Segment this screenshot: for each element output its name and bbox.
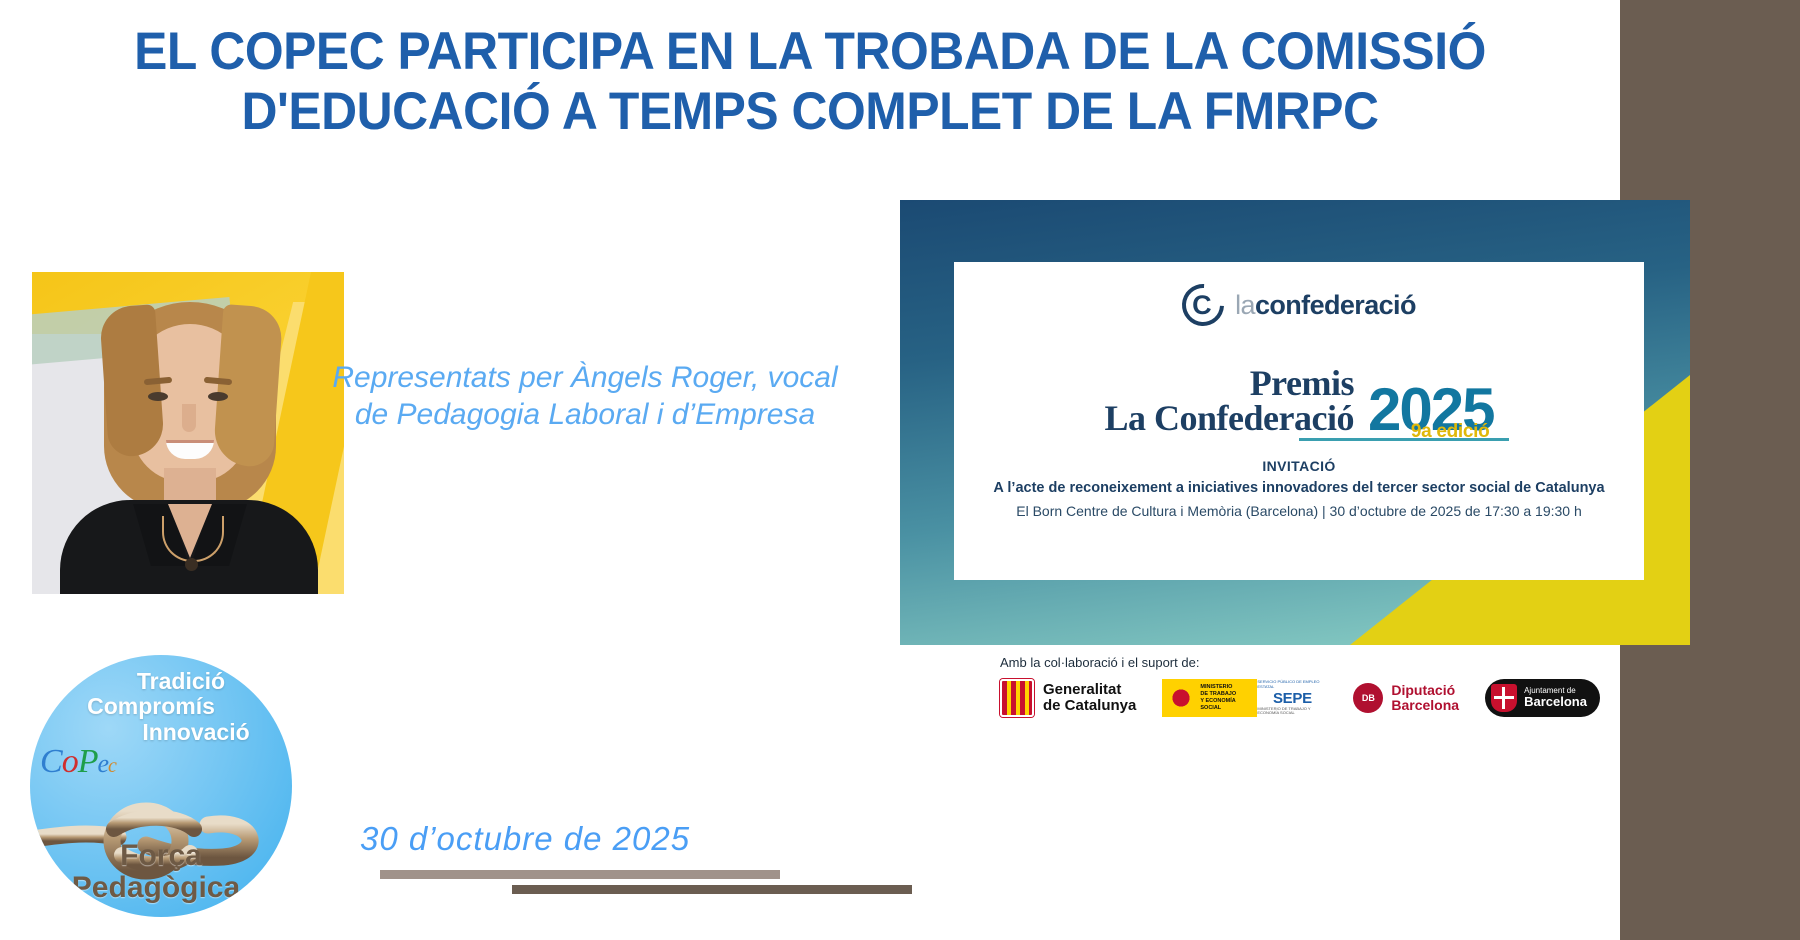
copec-force-line-2: Pedagògica	[30, 872, 292, 904]
sepe-top-text: SERVICIO PÚBLICO DE EMPLEO ESTATAL	[1257, 680, 1327, 690]
copec-letter-c: C	[40, 743, 62, 780]
ministerio-label: MINISTERIO DE TRABAJO Y ECONOMÍA SOCIAL	[1200, 684, 1248, 712]
generalitat-line-2: de Catalunya	[1043, 698, 1136, 714]
invitation-details: El Born Centre de Cultura i Memòria (Bar…	[954, 503, 1644, 519]
copec-letter-c2: c	[108, 755, 116, 777]
copec-logo: Tradició Compromís Innovació CoPec Força…	[30, 655, 292, 917]
sponsor-ministerio: MINISTERIO DE TRABAJO Y ECONOMÍA SOCIAL …	[1162, 679, 1327, 717]
copec-slogan-line-1: Tradició	[30, 669, 292, 694]
invitation-card-inner: C laconfederació Premis La Confederació …	[954, 262, 1644, 580]
copec-letter-e: e	[97, 749, 108, 778]
portrait-hair-right	[212, 304, 283, 468]
invitation-block: INVITACIÓ A l’acte de reconeixement a in…	[954, 458, 1644, 519]
copec-slogan: Tradició Compromís Innovació	[30, 669, 292, 745]
sepe-bottom-text: MINISTERIO DE TRABAJO Y ECONOMÍA SOCIAL	[1257, 707, 1327, 717]
generalitat-label: Generalitat de Catalunya	[1043, 682, 1136, 714]
copec-slogan-line-2: Compromís	[30, 694, 292, 719]
portrait-eye-right	[208, 392, 228, 401]
sponsor-diputacio: DB Diputació Barcelona	[1353, 683, 1459, 713]
ministerio-line-1: MINISTERIO	[1200, 684, 1248, 691]
diputacio-line-2: Barcelona	[1391, 698, 1459, 713]
decorative-bar-dark	[512, 885, 912, 894]
portrait-pendant	[185, 558, 198, 571]
ministerio-line-3: Y ECONOMÍA SOCIAL	[1200, 698, 1248, 712]
award-year-block: 2025 9a edició	[1368, 384, 1493, 437]
portrait-nose	[182, 404, 196, 432]
copec-letter-p: P	[78, 743, 98, 780]
award-line-1: Premis	[1105, 366, 1354, 401]
sepe-wordmark: SEPE	[1273, 690, 1312, 707]
award-title-row: Premis La Confederació 2025 9a edició	[954, 366, 1644, 437]
portrait-person	[32, 272, 344, 594]
invitation-text: A l’acte de reconeixement a iniciatives …	[954, 480, 1644, 496]
sponsor-generalitat: Generalitat de Catalunya	[1000, 679, 1136, 717]
laconfederacio-la: la	[1235, 290, 1255, 320]
ajuntament-line-2: Barcelona	[1524, 695, 1587, 709]
laconfederacio-mark-icon: C	[1182, 284, 1224, 326]
sponsors-caption: Amb la col·laboració i el suport de:	[1000, 655, 1620, 670]
date-text: 30 d’octubre de 2025	[360, 820, 690, 858]
page-title: EL COPEC PARTICIPA EN LA TROBADA DE LA C…	[49, 22, 1572, 143]
sponsor-ajuntament: Ajuntament de Barcelona	[1485, 679, 1600, 717]
portrait-eye-left	[148, 392, 168, 401]
ministerio-line-2: DE TRABAJO	[1200, 691, 1248, 698]
laconfederacio-wordmark: laconfederació	[1235, 290, 1416, 321]
subtitle-text: Representats per Àngels Roger, vocal de …	[330, 360, 840, 434]
sepe-logo: SERVICIO PÚBLICO DE EMPLEO ESTATAL SEPE …	[1257, 679, 1327, 717]
ministerio-crest-icon	[1166, 683, 1196, 713]
sponsors-row: Generalitat de Catalunya MINISTERIO DE T…	[1000, 679, 1620, 717]
award-line-2: La Confederació	[1105, 401, 1354, 436]
ajuntament-shield-icon	[1491, 684, 1517, 712]
generalitat-line-1: Generalitat	[1043, 682, 1136, 698]
invitation-label: INVITACIÓ	[954, 458, 1644, 474]
diputacio-seal-icon: DB	[1353, 683, 1383, 713]
laconfederacio-logo: C laconfederació	[954, 284, 1644, 326]
copec-letter-o: o	[62, 743, 78, 780]
laconfederacio-confederacio: confederació	[1255, 290, 1416, 320]
diputacio-line-1: Diputació	[1391, 683, 1459, 698]
copec-slogan-line-3: Innovació	[30, 720, 292, 745]
laconfederacio-letter: C	[1192, 292, 1212, 318]
copec-force-text: Força Pedagògica	[30, 840, 292, 903]
copec-force-line-1: Força	[30, 840, 292, 872]
card-divider	[1299, 438, 1509, 441]
decorative-bar-light	[380, 870, 780, 879]
invitation-card: C laconfederació Premis La Confederació …	[900, 200, 1690, 645]
ajuntament-label: Ajuntament de Barcelona	[1524, 687, 1587, 709]
portrait-photo	[32, 272, 344, 594]
generalitat-shield-icon	[1000, 679, 1034, 717]
diputacio-label: Diputació Barcelona	[1391, 683, 1459, 712]
award-title: Premis La Confederació	[1105, 366, 1354, 437]
copec-wordmark: CoPec	[40, 743, 170, 781]
sponsors-section: Amb la col·laboració i el suport de: Gen…	[1000, 655, 1620, 735]
